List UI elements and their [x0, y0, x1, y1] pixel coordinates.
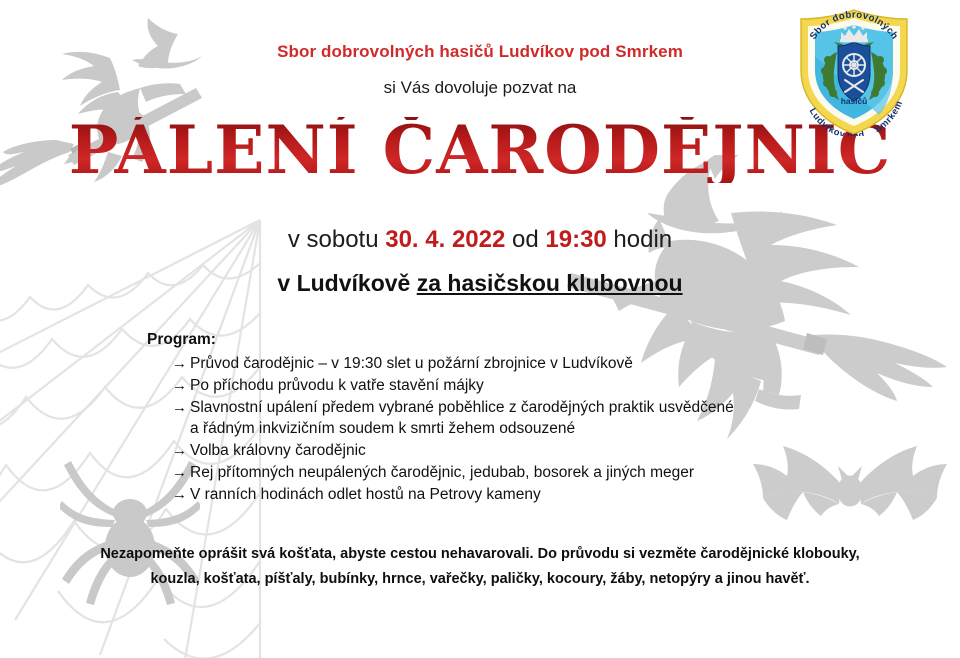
event-date-line: v sobotu 30. 4. 2022 od 19:30 hodin — [0, 226, 960, 254]
emblem-text-middle: hasičů — [841, 96, 868, 106]
program-list: → Průvod čarodějnic – v 19:30 slet u pož… — [147, 353, 787, 505]
program-item-text: Rej přítomných neupálených čarodějnic, j… — [190, 464, 694, 481]
arrow-icon: → — [172, 462, 187, 483]
fire-brigade-emblem-logo: Sbor dobrovolných hasičů Ludvíkov pod Sm… — [793, 8, 915, 136]
program-item-text: Volba královny čarodějnic — [190, 442, 366, 459]
date-middle: od — [505, 226, 545, 253]
event-place-line: v Ludvíkově za hasičskou klubovnou — [0, 270, 960, 297]
program-item-continuation: a řádným inkvizičním soudem k smrti žehe… — [190, 418, 787, 439]
program-section: Program: → Průvod čarodějnic – v 19:30 s… — [147, 331, 787, 506]
arrow-icon: → — [172, 375, 187, 396]
arrow-icon: → — [172, 353, 187, 374]
svg-text:pod: pod — [846, 129, 865, 136]
program-heading: Program: — [147, 331, 787, 349]
date-suffix: hodin — [607, 226, 672, 253]
poster-content: Sbor dobrovolných hasičů Ludvíkov pod Sm… — [0, 0, 960, 658]
list-item: → Průvod čarodějnic – v 19:30 slet u pož… — [172, 353, 787, 374]
arrow-icon: → — [172, 440, 187, 461]
list-item: → V ranních hodinách odlet hostů na Petr… — [172, 484, 787, 505]
footer-line-1: Nezapomeňte oprášit svá košťata, abyste … — [70, 542, 890, 567]
program-item-text: Průvod čarodějnic – v 19:30 slet u požár… — [190, 355, 633, 372]
program-item-text: Po příchodu průvodu k vatře stavění májk… — [190, 377, 484, 394]
list-item: → Slavnostní upálení předem vybrané pobě… — [172, 397, 787, 439]
arrow-icon: → — [172, 397, 187, 418]
program-item-text: Slavnostní upálení předem vybrané poběhl… — [190, 399, 734, 416]
footer-line-2: kouzla, košťata, píšťaly, bubínky, hrnce… — [70, 567, 890, 592]
event-time: 19:30 — [545, 226, 606, 253]
date-prefix: v sobotu — [288, 226, 385, 253]
place-prefix: v Ludvíkově — [277, 270, 416, 296]
list-item: → Po příchodu průvodu k vatře stavění má… — [172, 375, 787, 396]
list-item: → Rej přítomných neupálených čarodějnic,… — [172, 462, 787, 483]
poster-canvas: Sbor dobrovolných hasičů Ludvíkov pod Sm… — [0, 0, 960, 658]
event-date: 30. 4. 2022 — [385, 226, 505, 253]
arrow-icon: → — [172, 484, 187, 505]
list-item: → Volba královny čarodějnic — [172, 440, 787, 461]
program-item-text: V ranních hodinách odlet hostů na Petrov… — [190, 486, 541, 503]
place-venue: za hasičskou klubovnou — [417, 270, 683, 296]
footer-note: Nezapomeňte oprášit svá košťata, abyste … — [70, 542, 890, 592]
